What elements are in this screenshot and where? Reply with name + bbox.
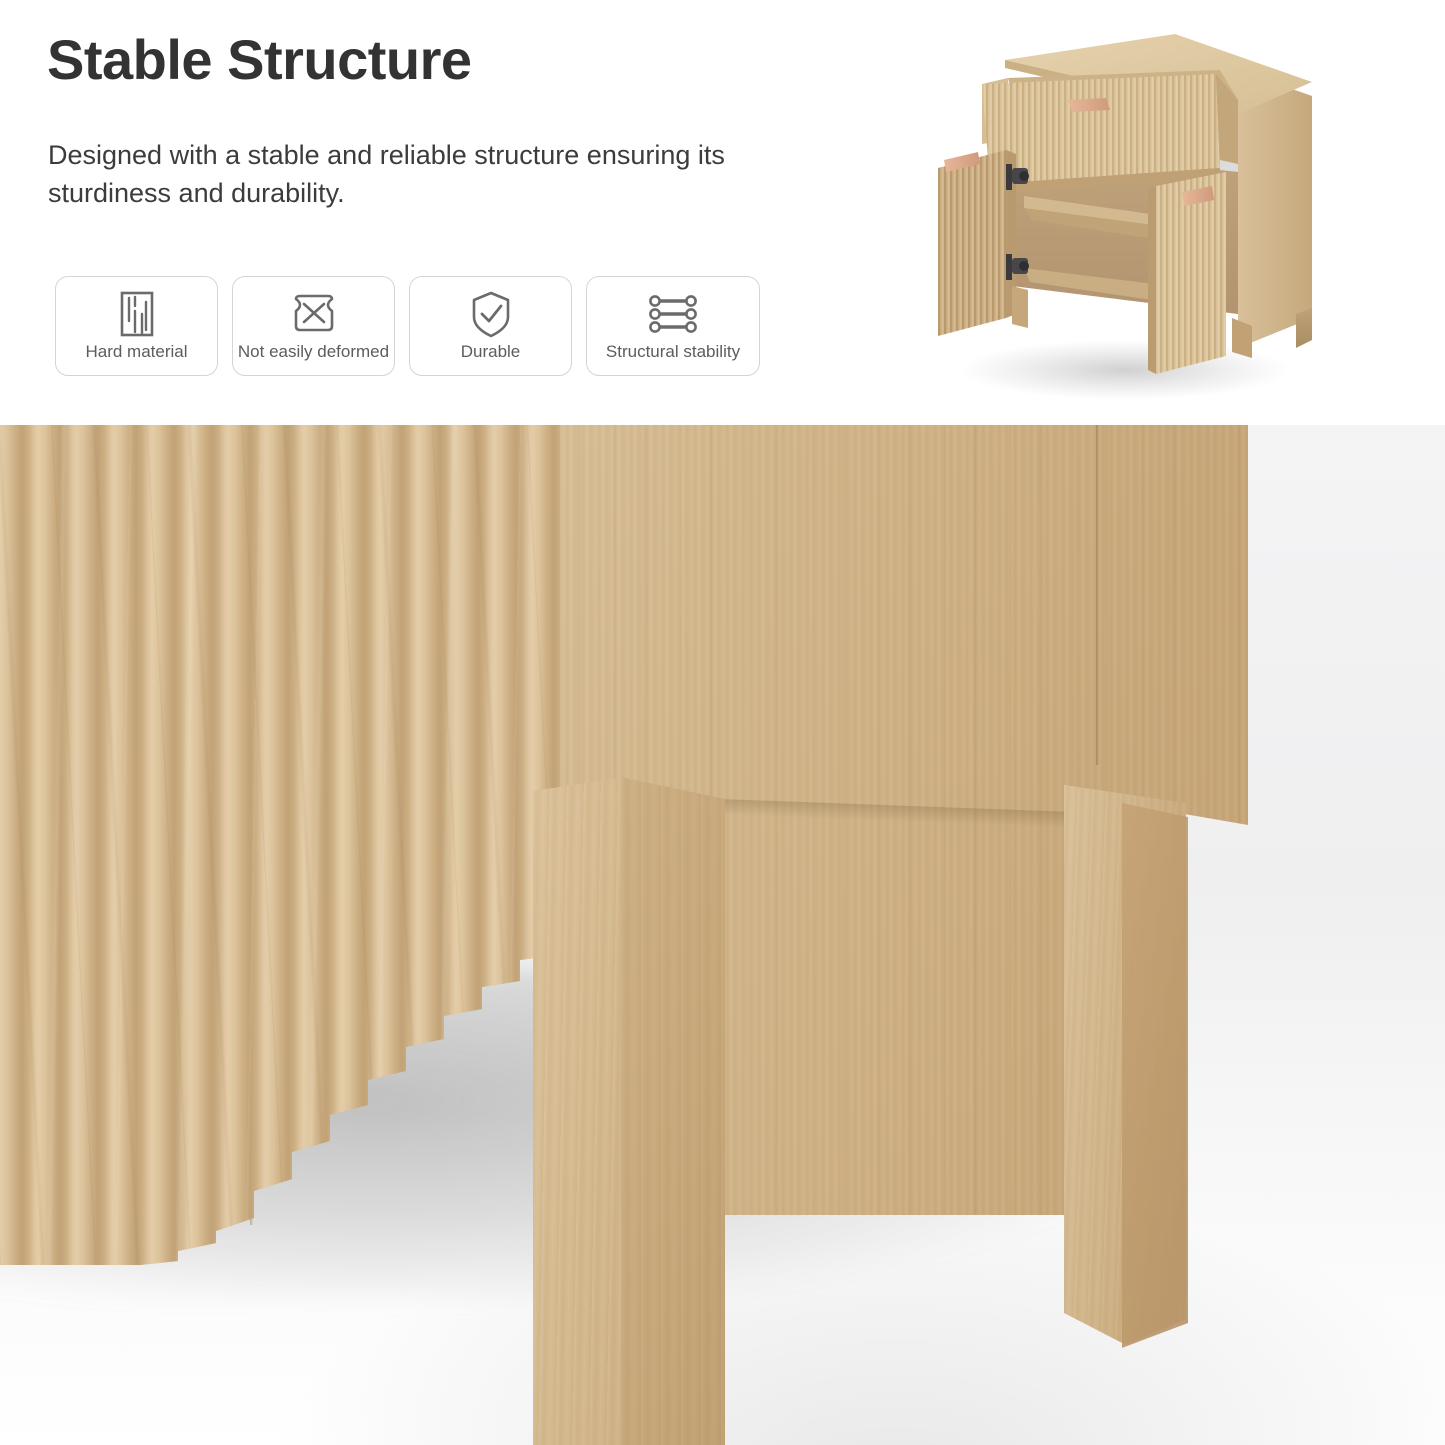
drawer-front-fluted (982, 74, 1220, 184)
cabinet-leg-rear-right (1296, 308, 1312, 348)
cabinet-leg-front (533, 777, 725, 1445)
leg-face-left (533, 777, 625, 1445)
cabinet-leg-front-left (1012, 286, 1028, 328)
cabinet-leg-right-face (1122, 803, 1188, 1348)
page-title: Stable Structure (47, 28, 472, 92)
feature-badge-label: Durable (461, 343, 521, 360)
product-render-nightstand (920, 18, 1340, 408)
feature-badge-row: Hard material Not easily deformed Dur (55, 276, 760, 376)
feature-badge-structural-stability: Structural stability (586, 276, 760, 376)
drawer-handle (1068, 98, 1110, 112)
no-deform-icon (286, 286, 342, 342)
leg-face-right (621, 777, 725, 1445)
feature-badge-not-easily-deformed: Not easily deformed (232, 276, 395, 376)
door-right-edge (1148, 186, 1156, 374)
shield-check-icon (465, 286, 517, 342)
linked-nodes-icon (644, 286, 702, 342)
info-panel: Stable Structure Designed with a stable … (0, 0, 1445, 425)
feature-badge-durable: Durable (409, 276, 572, 376)
product-photo-closeup (0, 425, 1445, 1445)
feature-badge-label: Not easily deformed (238, 343, 389, 360)
wood-plank-icon (111, 286, 163, 342)
cabinet-side-panel (1238, 70, 1312, 348)
panel-seam (1096, 425, 1099, 765)
page-subtitle: Designed with a stable and reliable stru… (48, 136, 728, 213)
feature-badge-hard-material: Hard material (55, 276, 218, 376)
feature-badge-label: Hard material (85, 343, 187, 360)
door-left-outer (938, 150, 1006, 336)
feature-badge-label: Structural stability (606, 343, 740, 360)
